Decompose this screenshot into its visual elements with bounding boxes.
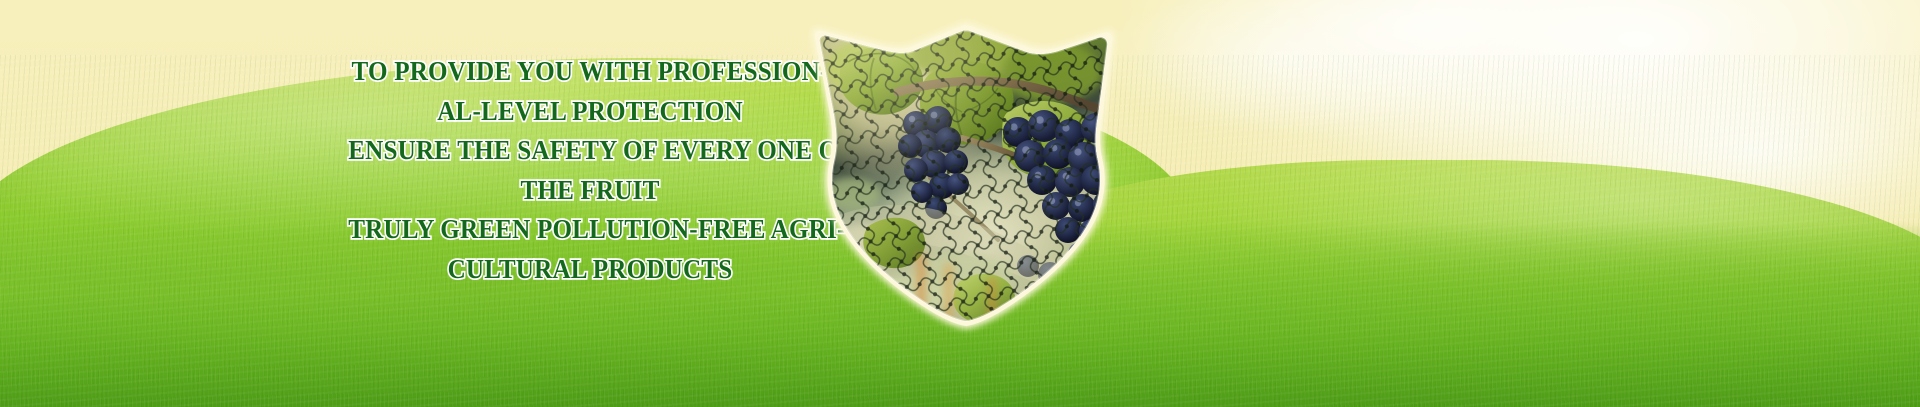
leaf-shape xyxy=(816,285,869,328)
headline-line-5: TRULY GREEN POLLUTION-FREE AGRI- xyxy=(348,210,832,250)
headline-line-6: CULTURAL PRODUCTS xyxy=(348,250,832,290)
headline-line-3: ENSURE THE SAFETY OF EVERY ONE OF xyxy=(348,131,832,171)
headline-line-2: AL-LEVEL PROTECTION xyxy=(348,92,832,132)
shield-emblem xyxy=(812,28,1112,328)
headline-line-1: TO PROVIDE YOU WITH PROFESSION- xyxy=(348,52,832,92)
shield-svg xyxy=(812,28,1112,328)
headline-line-4: THE FRUIT xyxy=(348,171,832,211)
agriculture-hero-banner: TO PROVIDE YOU WITH PROFESSION- AL-LEVEL… xyxy=(0,0,1920,407)
headline-block: TO PROVIDE YOU WITH PROFESSION- AL-LEVEL… xyxy=(330,52,850,289)
